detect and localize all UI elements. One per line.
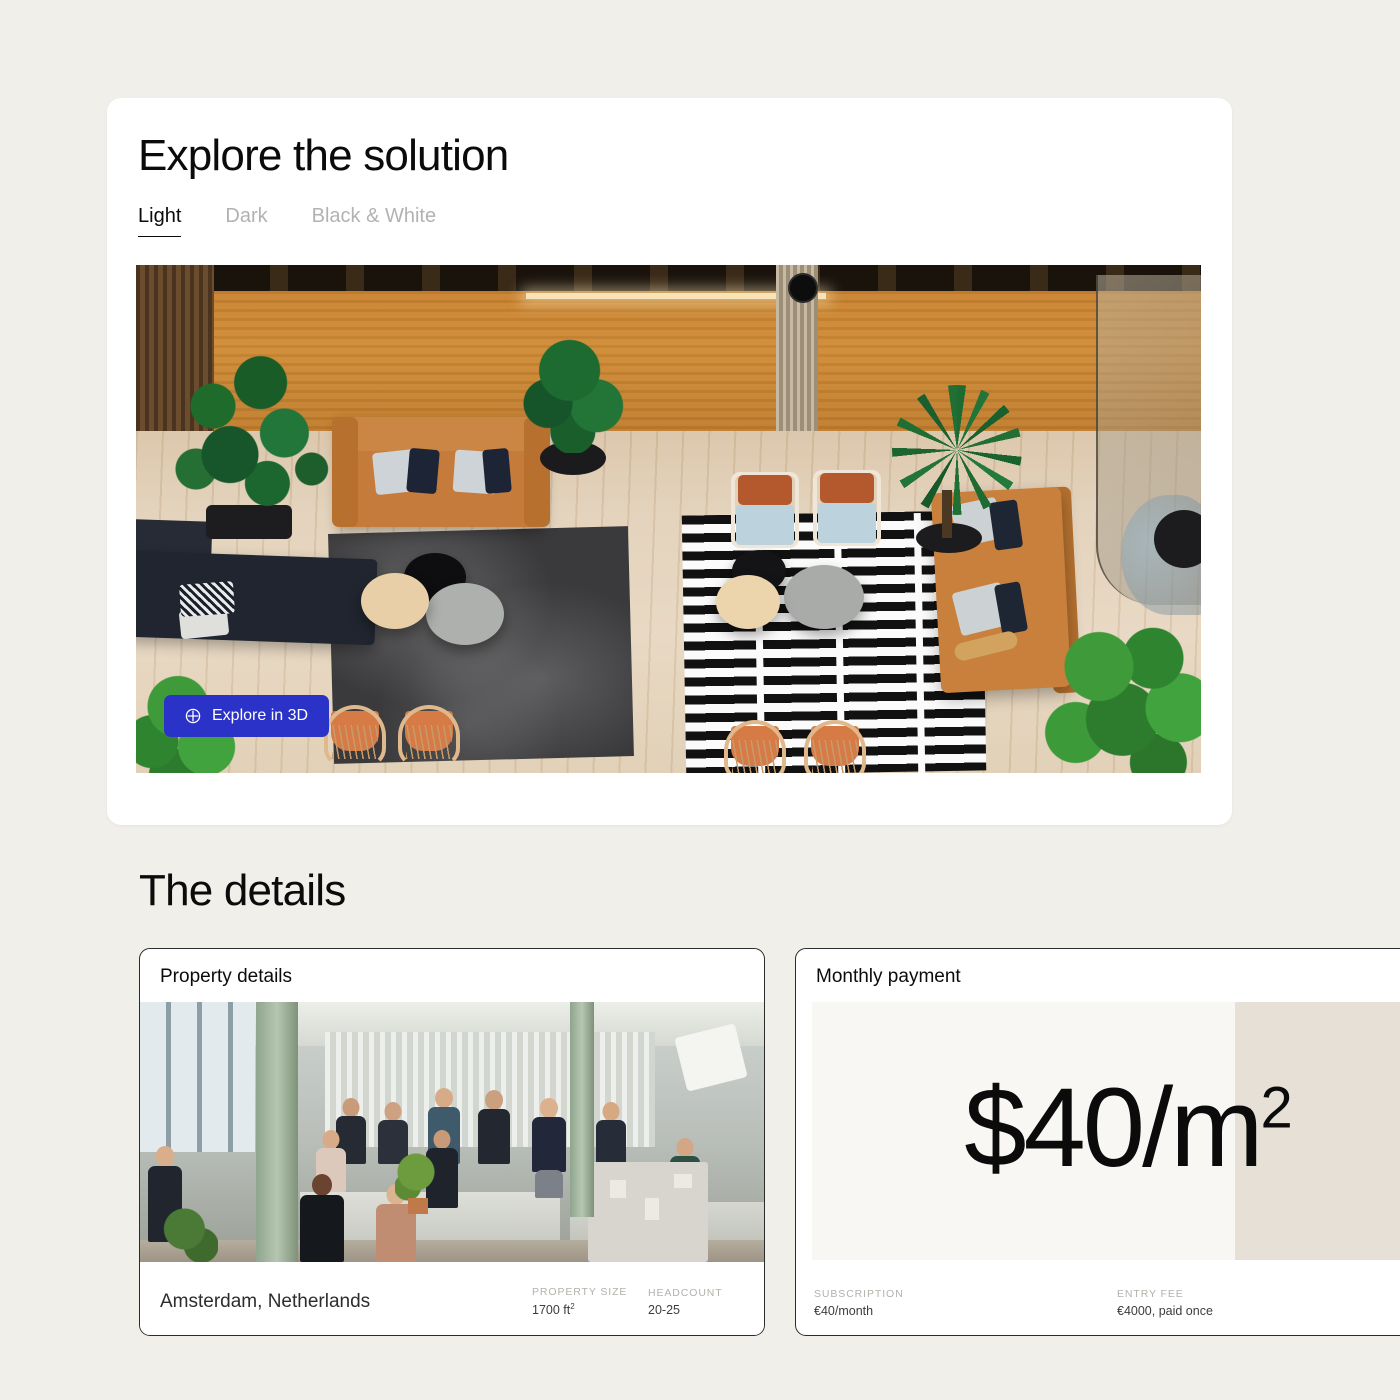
- stat-headcount: HEADCOUNT 20-25: [648, 1287, 744, 1317]
- cushion: [482, 448, 512, 494]
- property-card-footer: Amsterdam, Netherlands PROPERTY SIZE 170…: [140, 1269, 764, 1335]
- stat-property-size-number: 1700 ft: [532, 1304, 570, 1318]
- palm-plant: [892, 385, 1022, 515]
- stat-entry-fee: ENTRY FEE €4000, paid once: [1113, 1288, 1400, 1318]
- payment-visual: $40/m2: [796, 1002, 1400, 1260]
- monthly-payment-title: Monthly payment: [796, 949, 1400, 1002]
- desk-planter: [408, 1198, 428, 1214]
- person: [532, 1098, 566, 1194]
- circle-plus-icon: [185, 708, 201, 724]
- navy-sectional: [136, 551, 377, 646]
- striped-cushion: [179, 581, 235, 617]
- coffee-table-grey: [426, 583, 504, 645]
- monthly-payment-card: Monthly payment $40/m2 SUBSCRIPTION €40/…: [795, 948, 1400, 1336]
- monstera-plant: [162, 343, 332, 523]
- ceiling-glazing: [136, 265, 1201, 291]
- cushion: [406, 448, 440, 494]
- payment-card-footer: SUBSCRIPTION €40/month ENTRY FEE €4000, …: [796, 1271, 1400, 1335]
- page-root: Explore the solution Light Dark Black & …: [0, 0, 1400, 1400]
- stat-property-size: PROPERTY SIZE 1700 ft2: [532, 1286, 628, 1317]
- stat-property-size-exponent: 2: [570, 1302, 574, 1311]
- theme-tabs: Light Dark Black & White: [138, 205, 458, 237]
- tab-light[interactable]: Light: [138, 205, 203, 237]
- person: [300, 1174, 344, 1262]
- ficus-plant: [521, 335, 629, 453]
- stat-subscription-label: SUBSCRIPTION: [814, 1288, 1113, 1300]
- page-title: Explore the solution: [138, 131, 508, 181]
- property-photo: [140, 1002, 765, 1262]
- person: [478, 1090, 510, 1164]
- hero-card: Explore the solution Light Dark Black & …: [107, 98, 1232, 825]
- office-window: [140, 1002, 255, 1152]
- wooden-chair: [324, 705, 386, 771]
- explore-in-3d-label: Explore in 3D: [212, 707, 308, 725]
- payment-amount: $40/m2: [964, 1072, 1290, 1184]
- model-block: [674, 1174, 692, 1188]
- model-block: [610, 1180, 626, 1198]
- tab-black-and-white[interactable]: Black & White: [290, 205, 458, 237]
- tab-dark[interactable]: Dark: [203, 205, 289, 237]
- wooden-chair: [804, 720, 866, 773]
- armchair: [816, 473, 878, 543]
- property-details-title: Property details: [140, 949, 764, 1002]
- stat-entry-fee-label: ENTRY FEE: [1117, 1288, 1400, 1300]
- property-location: Amsterdam, Netherlands: [160, 1291, 512, 1313]
- coffee-table-grey: [784, 565, 864, 629]
- payment-amount-text: $40/m: [964, 1065, 1260, 1190]
- shrub-plant: [1036, 617, 1201, 773]
- stat-subscription-value: €40/month: [814, 1304, 1113, 1318]
- green-column: [570, 1002, 594, 1217]
- green-column: [256, 1002, 298, 1262]
- coffee-table-wood: [716, 575, 780, 629]
- desk-plant: [395, 1152, 437, 1202]
- stat-headcount-label: HEADCOUNT: [648, 1287, 744, 1299]
- property-details-card: Property details: [139, 948, 765, 1336]
- coffee-table-wood: [361, 573, 429, 629]
- stat-subscription: SUBSCRIPTION €40/month: [814, 1288, 1113, 1318]
- model-block: [645, 1198, 659, 1220]
- hero-photo: Explore in 3D: [136, 265, 1201, 773]
- wall-clock-icon: [788, 273, 818, 303]
- wooden-chair: [398, 705, 460, 771]
- stat-headcount-value: 20-25: [648, 1303, 744, 1317]
- tan-sofa-arm: [332, 417, 358, 527]
- stat-property-size-label: PROPERTY SIZE: [532, 1286, 628, 1298]
- stat-entry-fee-value: €4000, paid once: [1117, 1304, 1400, 1318]
- wooden-chair: [724, 720, 786, 773]
- stat-property-size-value: 1700 ft2: [532, 1302, 628, 1317]
- tan-sofa-backrest: [336, 417, 546, 451]
- floor-plant: [162, 1207, 218, 1262]
- payment-amount-exponent: 2: [1261, 1076, 1290, 1141]
- details-heading: The details: [139, 866, 345, 916]
- armchair: [734, 475, 796, 545]
- explore-in-3d-button[interactable]: Explore in 3D: [164, 695, 329, 737]
